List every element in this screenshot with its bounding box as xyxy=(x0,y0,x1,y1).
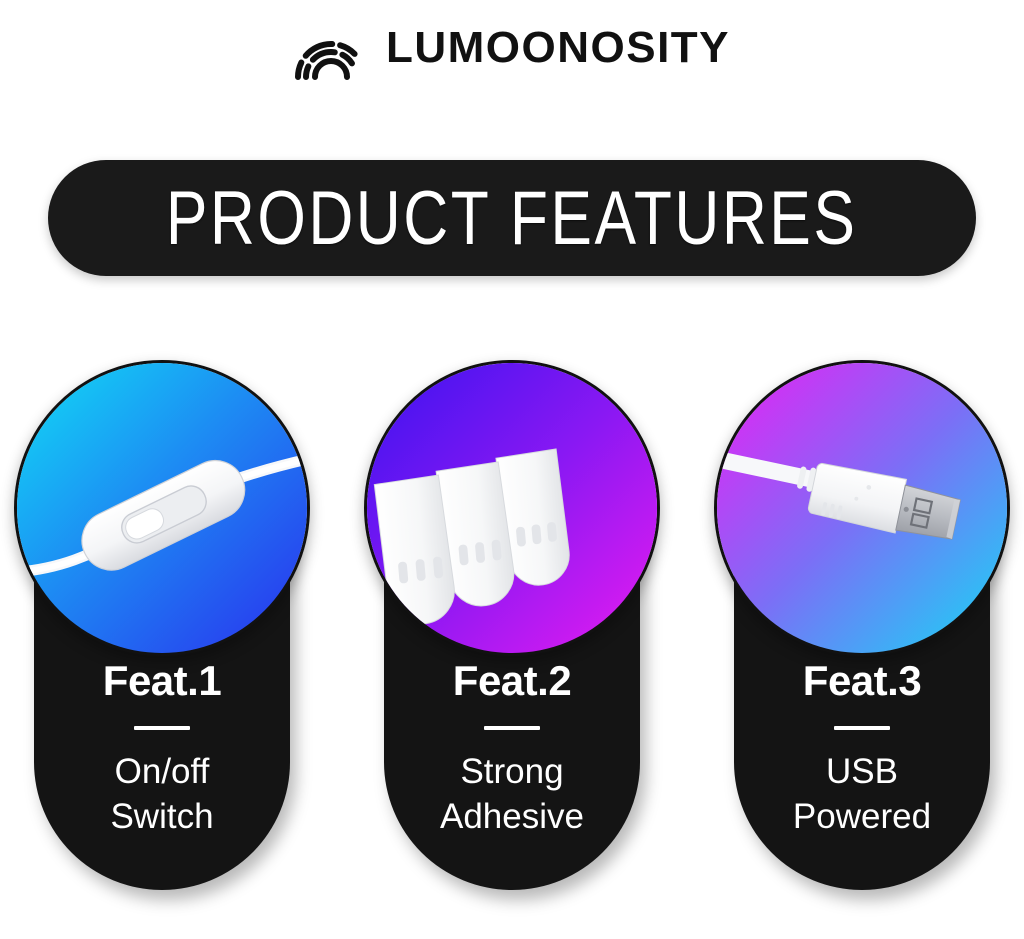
feature-description: Strong Adhesive xyxy=(384,750,640,840)
feature-cards: Feat.1 On/off Switch xyxy=(0,360,1024,920)
feature-divider xyxy=(484,726,540,730)
feature-card-1: Feat.1 On/off Switch xyxy=(34,360,290,890)
page-title-banner: PRODUCT FEATURES xyxy=(48,160,976,276)
feature-desc-line2: Switch xyxy=(42,795,282,840)
feature-description: On/off Switch xyxy=(34,750,290,840)
feature-desc-line1: USB xyxy=(742,750,982,795)
feature-label: Feat.1 xyxy=(34,660,290,702)
feature-description: USB Powered xyxy=(734,750,990,840)
feature-text-2: Feat.2 Strong Adhesive xyxy=(384,660,640,840)
feature-card-2: Feat.2 Strong Adhesive xyxy=(384,360,640,890)
feature-image-2 xyxy=(364,360,660,656)
page-title: PRODUCT FEATURES xyxy=(166,175,857,262)
feature-desc-line1: Strong xyxy=(392,750,632,795)
feature-image-3 xyxy=(714,360,1010,656)
inline-rocker-switch-icon xyxy=(17,363,307,653)
feature-desc-line2: Powered xyxy=(742,795,982,840)
feature-text-3: Feat.3 USB Powered xyxy=(734,660,990,840)
feature-divider xyxy=(134,726,190,730)
feature-image-1 xyxy=(14,360,310,656)
feature-desc-line1: On/off xyxy=(42,750,282,795)
feature-desc-line2: Adhesive xyxy=(392,795,632,840)
feature-card-3: Feat.3 USB Powered xyxy=(734,360,990,890)
adhesive-strips-icon xyxy=(367,363,657,653)
feature-divider xyxy=(834,726,890,730)
brand-header: LUMOONOSITY xyxy=(0,8,1024,88)
feature-text-1: Feat.1 On/off Switch xyxy=(34,660,290,840)
brand-name: LUMOONOSITY xyxy=(386,26,730,70)
feature-label: Feat.3 xyxy=(734,660,990,702)
usb-connector-icon xyxy=(717,363,1007,653)
moon-arcs-icon xyxy=(294,15,368,81)
feature-label: Feat.2 xyxy=(384,660,640,702)
